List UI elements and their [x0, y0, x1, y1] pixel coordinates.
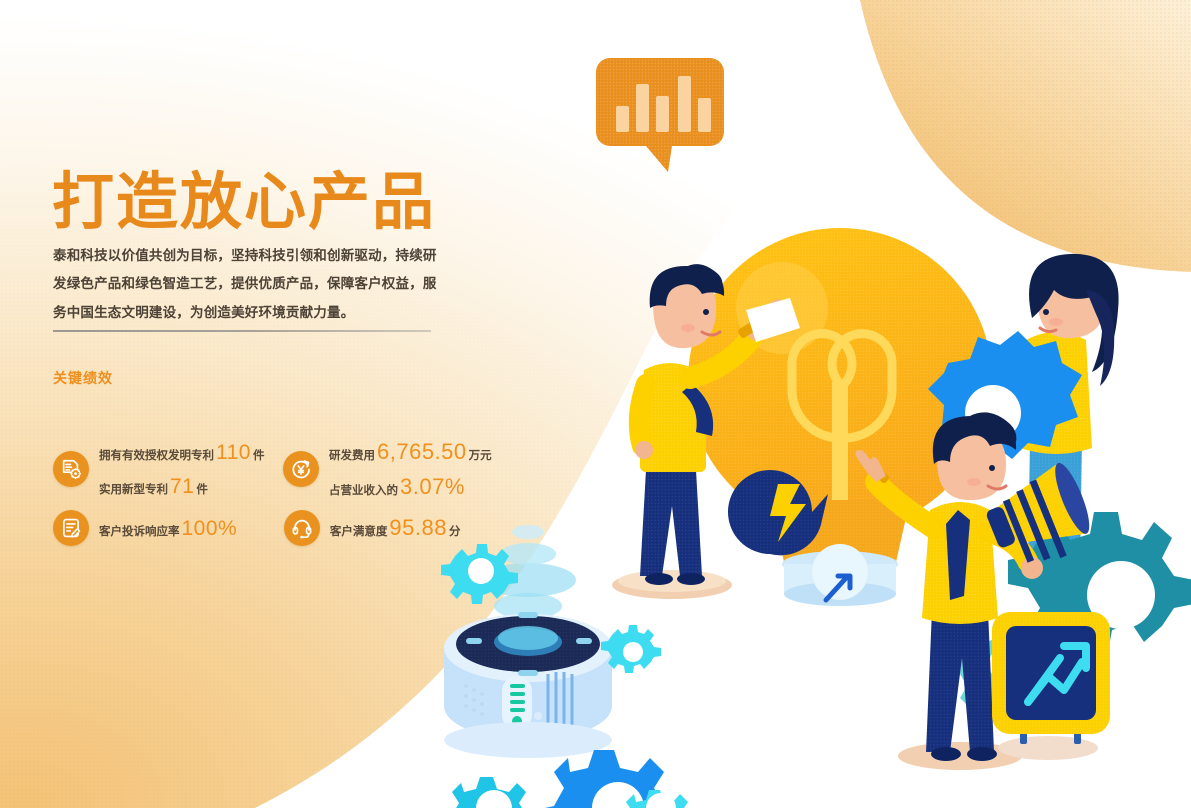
kpi-row: 拥有有效授权发明专利 110 件 实用新型专利 71 件 — [53, 428, 473, 510]
rnd-currency-icon — [283, 451, 319, 487]
kpi-grid: 拥有有效授权发明专利 110 件 实用新型专利 71 件 — [53, 428, 473, 546]
kpi-item-customer-satisfaction: 客户满意度 95.88 分 — [284, 510, 473, 546]
kpi-item-patents: 拥有有效授权发明专利 110 件 实用新型专利 71 件 — [53, 428, 283, 510]
kpi-unit: 件 — [253, 451, 265, 463]
kpi-line: 实用新型专利 71 件 — [99, 476, 264, 497]
kpi-value: 71 — [170, 476, 194, 497]
kpi-unit: 件 — [196, 485, 208, 497]
kpi-text-group: 研发费用 6,765.50 万元 占营业收入的 3.07% — [329, 441, 492, 498]
section-divider — [53, 330, 431, 332]
kpi-line: 研发费用 6,765.50 万元 — [329, 441, 492, 463]
kpi-value: 3.07% — [400, 476, 465, 498]
kpi-text-group: 拥有有效授权发明专利 110 件 实用新型专利 71 件 — [99, 442, 264, 497]
kpi-item-rnd-expense: 研发费用 6,765.50 万元 占营业收入的 3.07% — [283, 428, 473, 510]
kpi-value: 95.88 — [389, 517, 447, 539]
kpi-value: 6,765.50 — [377, 441, 467, 463]
kpi-label: 拥有有效授权发明专利 — [99, 451, 214, 463]
kpi-text-group: 客户投诉响应率 100% — [99, 518, 239, 539]
complaint-response-icon — [53, 510, 89, 546]
kpi-text-group: 客户满意度 95.88 分 — [330, 517, 461, 539]
kpi-label: 实用新型专利 — [99, 485, 168, 497]
kpi-label: 客户投诉响应率 — [99, 527, 180, 539]
customer-satisfaction-headset-icon — [284, 510, 320, 546]
patent-certificate-icon — [53, 451, 89, 487]
kpi-row: 客户投诉响应率 100% — [53, 510, 473, 546]
kpi-label: 占营业收入的 — [329, 486, 398, 498]
kpi-line: 客户满意度 95.88 分 — [330, 517, 461, 539]
kpi-unit: 分 — [449, 527, 461, 539]
kpi-line: 拥有有效授权发明专利 110 件 — [99, 442, 264, 463]
kpi-section-heading: 关键绩效 — [53, 368, 113, 388]
kpi-unit: 万元 — [469, 451, 492, 463]
kpi-line: 客户投诉响应率 100% — [99, 518, 239, 539]
kpi-value: 100% — [182, 518, 238, 539]
intro-paragraph: 泰和科技以价值共创为目标，坚持科技引领和创新驱动，持续研发绿色产品和绿色智造工艺… — [53, 242, 441, 328]
kpi-item-complaint-response: 客户投诉响应率 100% — [53, 510, 284, 546]
kpi-label: 客户满意度 — [330, 527, 388, 539]
kpi-value: 110 — [216, 442, 251, 463]
promo-page: 打造放心产品 泰和科技以价值共创为目标，坚持科技引领和创新驱动，持续研发绿色产品… — [0, 0, 1191, 808]
page-title: 打造放心产品 — [52, 170, 436, 235]
kpi-line: 占营业收入的 3.07% — [329, 476, 492, 498]
kpi-label: 研发费用 — [329, 451, 375, 463]
content-layer: 打造放心产品 泰和科技以价值共创为目标，坚持科技引领和创新驱动，持续研发绿色产品… — [0, 0, 1191, 808]
